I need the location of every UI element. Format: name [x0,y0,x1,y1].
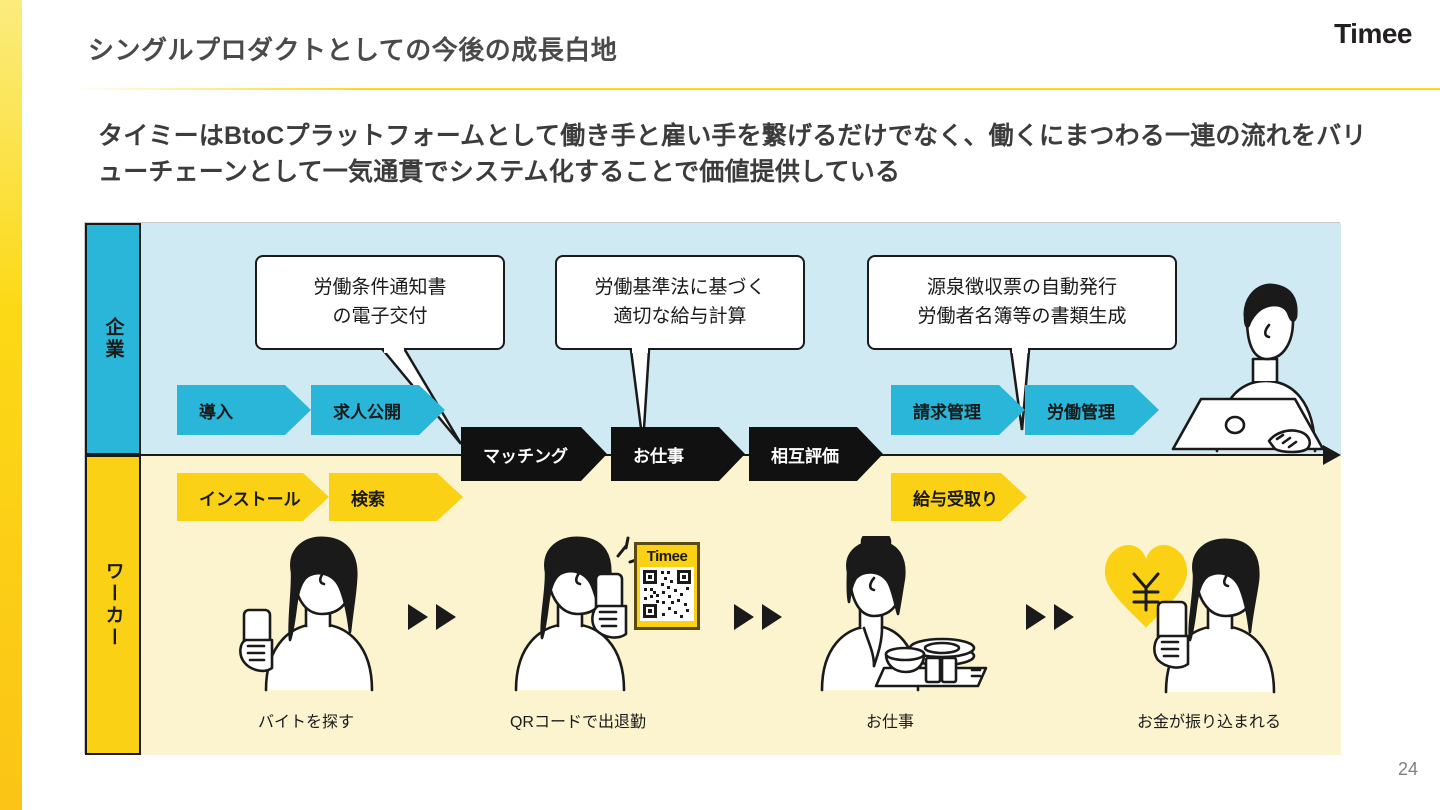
callout-1-line2: の電子交付 [313,303,446,332]
step-worker-1[interactable]: インストール [177,473,329,521]
left-accent-stripe [0,0,22,810]
separator-play-icons-1 [408,604,456,630]
play-triangle-icon [762,604,782,630]
step-company-3[interactable]: 請求管理 [891,385,1025,435]
illustration-worker-searching [238,536,390,692]
qr-poster-brand: Timee [637,545,697,565]
step-worker-2-label: 検索 [351,485,385,510]
callout-bubble-1: 労働条件通知書 の電子交付 [255,255,505,350]
callout-3-line2: 労働者名簿等の書類生成 [917,303,1126,332]
callout-2-line2: 適切な給与計算 [594,303,765,332]
step-worker-1-label: インストール [199,485,301,510]
step-worker-2[interactable]: 検索 [329,473,463,521]
worker-caption-3: お仕事 [800,708,980,732]
step-company-3-label: 請求管理 [913,398,981,423]
qr-code-icon [640,567,694,621]
separator-play-icons-2 [734,604,782,630]
page-number: 24 [1398,759,1418,780]
worker-caption-1: バイトを探す [196,708,416,732]
separator-play-icons-3 [1026,604,1074,630]
step-company-2-label: 求人公開 [333,398,401,423]
qr-poster: Timee [634,542,700,630]
step-worker-3-label: 給与受取り [913,485,998,510]
worker-caption-2: QRコードで出退勤 [468,708,688,732]
step-company-4[interactable]: 労働管理 [1025,385,1159,435]
lane-label-worker: ワーカー [85,455,141,755]
play-triangle-icon [1054,604,1074,630]
illustration-worker-paid [1098,536,1288,694]
illustration-worker-checkin [500,536,650,692]
step-worker-3[interactable]: 給与受取り [891,473,1027,521]
play-triangle-icon [734,604,754,630]
step-company-1[interactable]: 導入 [177,385,311,435]
play-triangle-icon [1026,604,1046,630]
page-title: シングルプロダクトとしての今後の成長白地 [88,30,617,67]
step-shared-3[interactable]: 相互評価 [749,427,883,481]
callout-2-line1: 労働基準法に基づく [594,274,765,303]
callout-3-line1: 源泉徴収票の自動発行 [917,274,1126,303]
step-shared-1-label: マッチング [483,442,568,467]
step-shared-2-label: お仕事 [633,442,684,467]
step-company-4-label: 労働管理 [1047,398,1115,423]
timee-logo: Timee [1334,18,1412,50]
callout-bubble-3: 源泉徴収票の自動発行 労働者名簿等の書類生成 [867,255,1177,350]
step-company-2[interactable]: 求人公開 [311,385,445,435]
step-shared-3-label: 相互評価 [771,442,839,467]
step-shared-2[interactable]: お仕事 [611,427,745,481]
lane-label-worker-text: ワーカー [100,561,127,649]
lane-label-company-text: 企業 [100,317,127,361]
play-triangle-icon [436,604,456,630]
lane-label-company: 企業 [85,223,141,455]
step-shared-1[interactable]: マッチング [461,427,607,481]
lead-paragraph: タイミーはBtoCプラットフォームとして働き手と雇い手を繋げるだけでなく、働くに… [98,118,1388,191]
illustration-worker-on-the-job [812,536,990,692]
header-divider [70,88,1440,90]
illustration-employer-at-laptop [1165,273,1341,455]
worker-caption-4: お金が振り込まれる [1098,708,1320,732]
callout-1-line1: 労働条件通知書 [313,274,446,303]
callout-bubble-2: 労働基準法に基づく 適切な給与計算 [555,255,805,350]
play-triangle-icon [408,604,428,630]
step-company-1-label: 導入 [199,398,233,423]
